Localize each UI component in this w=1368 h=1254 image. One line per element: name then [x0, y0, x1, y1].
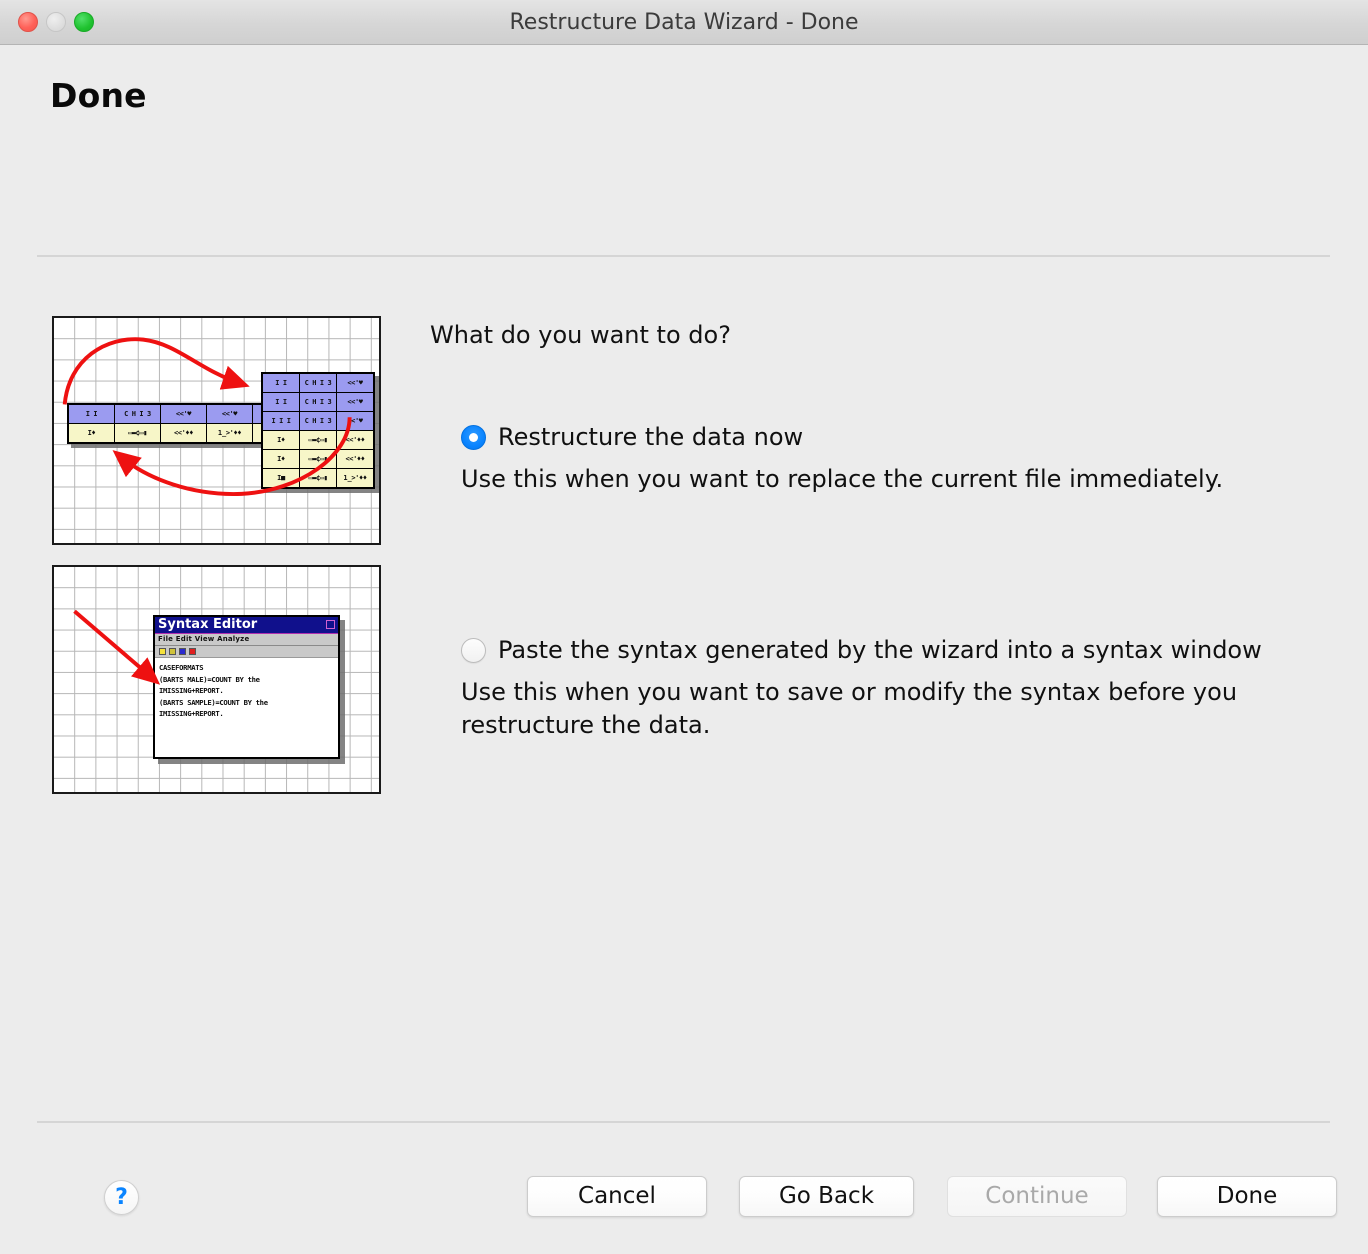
mini-table-tall: I I C H I 3 <<'♥ I I C H I 3 <<'♥ I I I …	[261, 372, 375, 489]
table-row: I I C H I 3 <<'♥	[262, 373, 374, 393]
separator-top	[37, 255, 1330, 257]
radio-option-restructure-now[interactable]: Restructure the data now Use this when y…	[461, 424, 1301, 496]
radio-description-restructure-now: Use this when you want to replace the cu…	[461, 463, 1291, 496]
window-title: Restructure Data Wizard - Done	[0, 0, 1368, 45]
toolbar-swatch-olive-icon	[169, 648, 176, 655]
syntax-editor-menubar: File Edit View Analyze	[155, 634, 338, 646]
table-cell: 1̲>'♦♦	[337, 469, 375, 489]
syntax-editor-window: Syntax Editor File Edit View Analyze CAS…	[153, 615, 340, 759]
table-row: I■ ▭▬¢▭▮ 1̲>'♦♦	[262, 469, 374, 489]
table-cell: <<'♥	[337, 373, 375, 393]
table-row: I♦ ▭▬¢▭▮ <<'♦♦	[262, 431, 374, 450]
go-back-button[interactable]: Go Back	[739, 1176, 914, 1217]
continue-button: Continue	[947, 1176, 1127, 1217]
done-button[interactable]: Done	[1157, 1176, 1337, 1217]
radio-label-paste-syntax[interactable]: Paste the syntax generated by the wizard…	[498, 637, 1262, 663]
toolbar-swatch-blue-icon	[179, 648, 186, 655]
table-cell: I■	[262, 469, 300, 489]
table-cell: I I	[262, 393, 300, 412]
table-cell: C H I 3	[300, 393, 337, 412]
table-cell: ▭▬¢▭▮	[115, 424, 161, 444]
code-line: IMISSING+REPORT.	[159, 685, 336, 697]
table-row: I♦ ▭▬¢▭▮ <<'♦♦	[262, 450, 374, 469]
radio-button-paste-syntax[interactable]	[461, 638, 486, 663]
syntax-editor-maximize-icon	[326, 620, 335, 629]
radio-button-restructure-now[interactable]	[461, 425, 486, 450]
table-cell: <<'♦♦	[161, 424, 207, 444]
table-cell: ▭▬¢▭▮	[300, 469, 337, 489]
table-cell: I I I	[262, 412, 300, 431]
window-titlebar: Restructure Data Wizard - Done	[0, 0, 1368, 45]
table-cell: C H I 3	[300, 412, 337, 431]
code-line: IMISSING+REPORT.	[159, 708, 336, 720]
illustration-paste-syntax: Syntax Editor File Edit View Analyze CAS…	[52, 565, 381, 794]
table-cell: <<'♦♦	[337, 450, 375, 469]
code-line: (BARTS MALE)=COUNT BY the	[159, 674, 336, 686]
table-cell: I I	[68, 404, 115, 424]
table-cell: I♦	[262, 431, 300, 450]
cancel-button[interactable]: Cancel	[527, 1176, 707, 1217]
table-cell: C H I 3	[300, 373, 337, 393]
syntax-editor-code: CASEFORMATS (BARTS MALE)=COUNT BY the IM…	[155, 658, 338, 720]
separator-bottom	[37, 1121, 1330, 1123]
table-cell: I I	[262, 373, 300, 393]
table-cell: <<'♥	[207, 404, 253, 424]
toolbar-swatch-red-icon	[189, 648, 196, 655]
code-line: CASEFORMATS	[159, 662, 336, 674]
question-label: What do you want to do?	[430, 321, 731, 349]
table-cell: C H I 3	[115, 404, 161, 424]
toolbar-swatch-yellow-icon	[159, 648, 166, 655]
table-cell: ▭▬¢▭▮	[300, 450, 337, 469]
table-cell: ▭▬¢▭▮	[300, 431, 337, 450]
table-cell: <<'♥	[161, 404, 207, 424]
radio-description-paste-syntax: Use this when you want to save or modify…	[461, 676, 1291, 742]
code-line: (BARTS SAMPLE)=COUNT BY the	[159, 697, 336, 709]
radio-option-paste-syntax[interactable]: Paste the syntax generated by the wizard…	[461, 637, 1301, 742]
table-cell: <<'♥	[337, 393, 375, 412]
radio-label-restructure-now[interactable]: Restructure the data now	[498, 424, 803, 450]
table-cell: 1̲>'♦♦	[207, 424, 253, 444]
table-cell: <<'♦♦	[337, 431, 375, 450]
table-row: I I C H I 3 <<'♥	[262, 393, 374, 412]
table-cell: <<'♥	[337, 412, 375, 431]
syntax-editor-toolbar	[155, 646, 338, 658]
table-row: I I I C H I 3 <<'♥	[262, 412, 374, 431]
syntax-editor-title: Syntax Editor	[158, 618, 257, 632]
page-title: Done	[50, 76, 147, 115]
illustration-restructure-data: I I C H I 3 <<'♥ <<'♥ <<'♥ I♦ ▭▬¢▭▮ <<'♦…	[52, 316, 381, 545]
table-cell: I♦	[262, 450, 300, 469]
syntax-editor-titlebar: Syntax Editor	[155, 617, 338, 634]
help-button[interactable]: ?	[104, 1180, 139, 1215]
table-cell: I♦	[68, 424, 115, 444]
